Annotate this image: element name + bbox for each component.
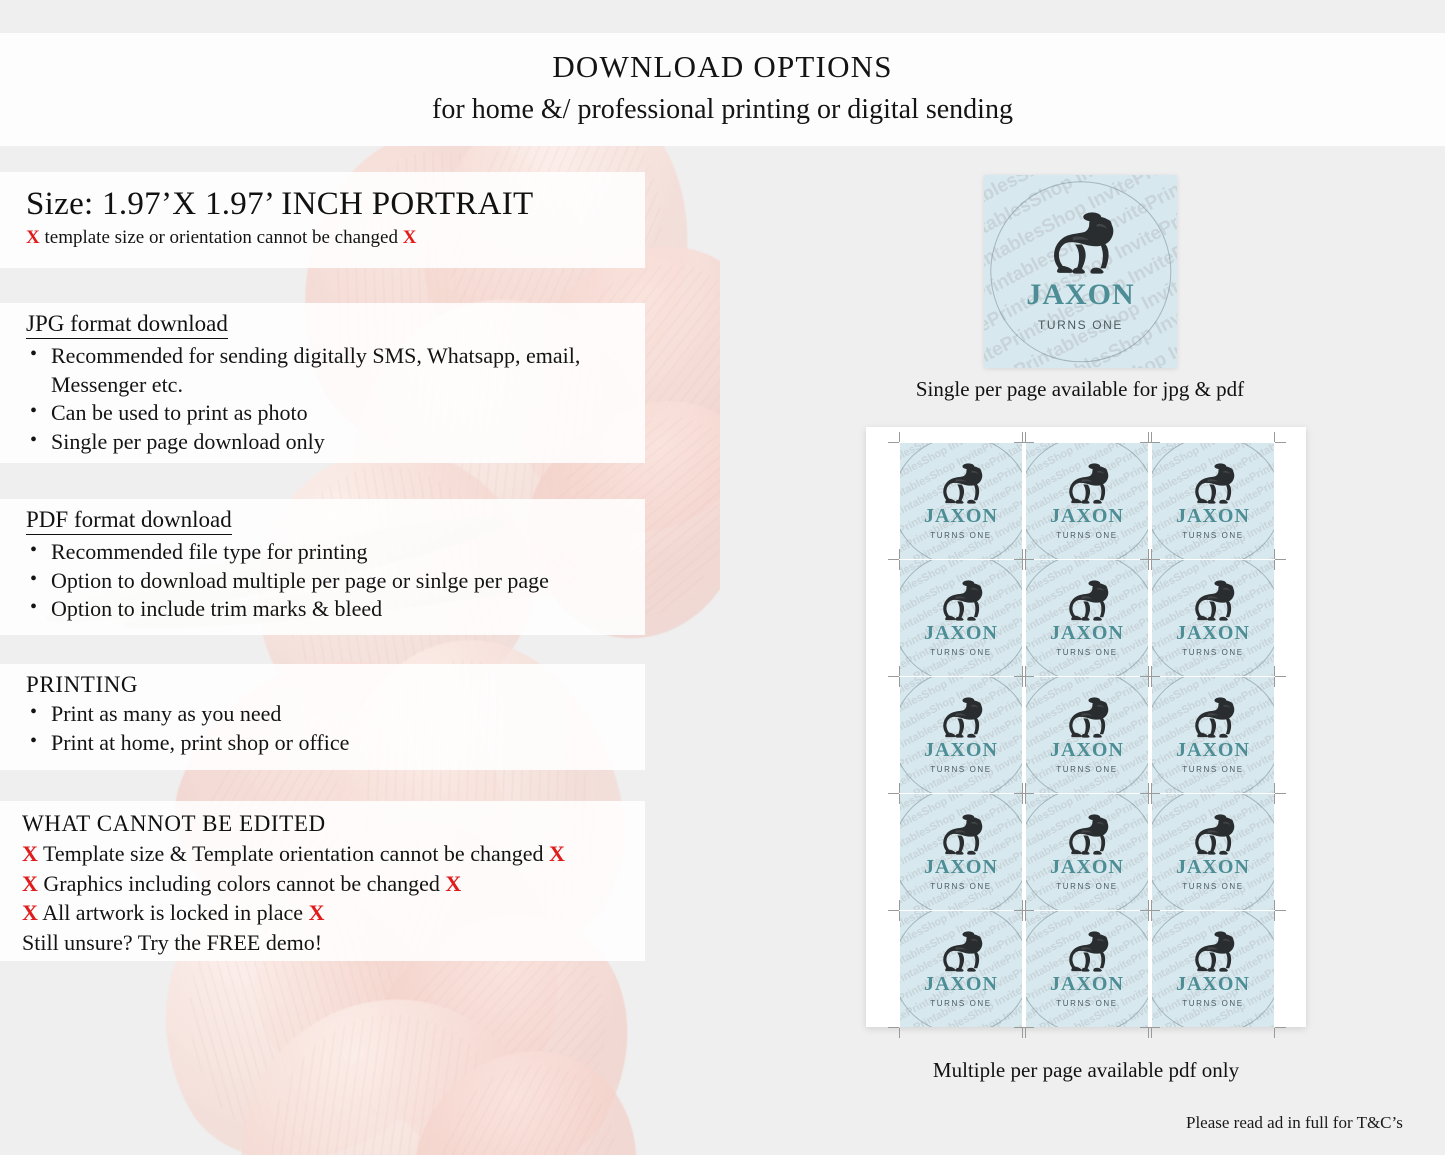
cannot-edit-text: Graphics including colors cannot be chan…: [43, 871, 439, 896]
trim-mark: [1140, 1027, 1151, 1028]
x-mark-icon: X: [22, 841, 38, 866]
x-mark-icon: X: [445, 871, 461, 896]
trim-mark: [899, 666, 900, 676]
sticker-name: JAXON: [1050, 506, 1124, 526]
trim-mark: [1274, 1028, 1275, 1038]
gorilla-icon: [1060, 580, 1114, 621]
sticker-name: JAXON: [1176, 974, 1250, 994]
sticker-tile: InvitePrintablesShop InvitePrintablesSho…: [1026, 443, 1148, 559]
sticker-tile: InvitePrintablesShop InvitePrintablesSho…: [1026, 794, 1148, 910]
sticker-name: JAXON: [1176, 740, 1250, 760]
sticker-tagline: TURNS ONE: [1056, 766, 1118, 774]
sticker-4: InvitePrintablesShop InvitePrintablesSho…: [900, 560, 1022, 676]
cannot-edit-text: Template size & Template orientation can…: [43, 841, 544, 866]
sticker-tile: InvitePrintablesShop InvitePrintablesSho…: [1152, 677, 1274, 793]
sticker-name: JAXON: [1050, 857, 1124, 877]
printing-heading: PRINTING: [26, 672, 645, 698]
trim-mark: [899, 1028, 900, 1038]
cannot-edit-closing: Still unsure? Try the FREE demo!: [22, 928, 645, 958]
sticker-sheet: InvitePrintablesShop InvitePrintablesSho…: [866, 427, 1306, 1027]
sticker-tagline: TURNS ONE: [1182, 532, 1244, 540]
sticker-tile: InvitePrintablesShop InvitePrintablesSho…: [1026, 560, 1148, 676]
sticker-tagline: TURNS ONE: [1182, 1000, 1244, 1008]
trim-mark: [1274, 666, 1275, 676]
list-item: Single per page download only: [26, 428, 645, 457]
sticker-tagline: TURNS ONE: [1182, 649, 1244, 657]
trim-mark: [1151, 1028, 1152, 1038]
sticker-name: JAXON: [924, 740, 998, 760]
cannot-edit-line: X Template size & Template orientation c…: [22, 839, 645, 869]
trim-mark: [1148, 560, 1149, 570]
trim-mark: [1140, 559, 1151, 560]
trim-mark: [1022, 677, 1023, 687]
sticker-tile: InvitePrintablesShop InvitePrintablesSho…: [900, 794, 1022, 910]
gorilla-icon: [1186, 463, 1240, 504]
trim-mark: [1148, 1028, 1149, 1038]
pdf-panel: PDF format download Recommended file typ…: [0, 499, 645, 635]
trim-mark: [1025, 900, 1026, 910]
trim-mark: [1022, 783, 1023, 793]
sticker-tile: InvitePrintablesShop InvitePrintablesSho…: [900, 911, 1022, 1027]
trim-mark: [1151, 783, 1152, 793]
trim-mark: [899, 783, 900, 793]
list-item: Recommended file type for printing: [26, 538, 645, 567]
page-root: DOWNLOAD OPTIONS for home &/ professiona…: [0, 0, 1445, 1155]
sticker-tile: InvitePrintablesShop InvitePrintablesSho…: [900, 443, 1022, 559]
gorilla-icon: [934, 463, 988, 504]
sticker-tagline: TURNS ONE: [1056, 1000, 1118, 1008]
list-item: Option to include trim marks & bleed: [26, 595, 645, 624]
sticker-name: JAXON: [1050, 974, 1124, 994]
trim-mark: [1022, 900, 1023, 910]
trim-mark: [899, 432, 900, 442]
sticker-name: JAXON: [1176, 623, 1250, 643]
trim-mark: [888, 910, 899, 911]
terms-footnote: Please read ad in full for T&C’s: [1186, 1113, 1403, 1133]
trim-mark: [899, 900, 900, 910]
gorilla-icon: [934, 697, 988, 738]
gorilla-icon: [1186, 931, 1240, 972]
sticker-tile: InvitePrintablesShop InvitePrintablesSho…: [900, 560, 1022, 676]
page-subtitle: for home &/ professional printing or dig…: [0, 94, 1445, 126]
sticker-5: InvitePrintablesShop InvitePrintablesSho…: [1026, 560, 1148, 676]
trim-mark: [1022, 560, 1023, 570]
sticker-tile: InvitePrintablesShop InvitePrintablesSho…: [1152, 794, 1274, 910]
sticker-name: JAXON: [924, 974, 998, 994]
sticker-tagline: TURNS ONE: [1182, 883, 1244, 891]
x-mark-icon: X: [22, 900, 38, 925]
gorilla-icon: [1060, 697, 1114, 738]
trim-mark: [1275, 676, 1286, 677]
sticker-tile: InvitePrintablesShop InvitePrintablesSho…: [900, 677, 1022, 793]
list-item: Can be used to print as photo: [26, 399, 645, 428]
sticker-1: InvitePrintablesShop InvitePrintablesSho…: [900, 443, 1022, 559]
sticker-tile: InvitePrintablesShop InvitePrintablesSho…: [1152, 443, 1274, 559]
gorilla-icon: [1060, 463, 1114, 504]
sticker-tagline: TURNS ONE: [930, 649, 992, 657]
trim-mark: [1274, 432, 1275, 442]
trim-mark: [1275, 910, 1286, 911]
trim-mark: [1014, 676, 1025, 677]
printing-bullet-list: Print as many as you need Print at home,…: [26, 700, 645, 757]
x-mark-icon: X: [549, 841, 565, 866]
sticker-tagline: TURNS ONE: [1056, 649, 1118, 657]
trim-mark: [1022, 432, 1023, 442]
gorilla-icon: [1060, 814, 1114, 855]
trim-mark: [1148, 783, 1149, 793]
trim-mark: [1275, 793, 1286, 794]
sticker-grid: InvitePrintablesShop InvitePrintablesSho…: [900, 443, 1274, 1027]
jpg-panel: JPG format download Recommended for send…: [0, 303, 645, 463]
jpg-heading: JPG format download: [26, 311, 228, 339]
sticker-name: JAXON: [924, 506, 998, 526]
list-item: Print as many as you need: [26, 700, 645, 729]
sticker-tagline: TURNS ONE: [930, 532, 992, 540]
trim-mark: [1148, 549, 1149, 559]
trim-mark: [1148, 794, 1149, 804]
sticker-7: InvitePrintablesShop InvitePrintablesSho…: [900, 677, 1022, 793]
sticker-8: InvitePrintablesShop InvitePrintablesSho…: [1026, 677, 1148, 793]
trim-mark: [1148, 666, 1149, 676]
size-note-text: template size or orientation cannot be c…: [44, 227, 397, 248]
sticker-12: InvitePrintablesShop InvitePrintablesSho…: [1152, 794, 1274, 910]
size-panel: Size: 1.97’X 1.97’ INCH PORTRAIT X templ…: [0, 172, 645, 268]
x-mark-icon: X: [309, 900, 325, 925]
trim-mark: [1148, 911, 1149, 921]
trim-mark: [1274, 783, 1275, 793]
trim-mark: [1014, 793, 1025, 794]
trim-mark: [1148, 432, 1149, 442]
x-mark-icon: X: [403, 227, 417, 248]
gorilla-icon: [1186, 697, 1240, 738]
sticker-name: JAXON: [924, 857, 998, 877]
trim-mark: [888, 676, 899, 677]
trim-mark: [1151, 900, 1152, 910]
trim-mark: [1274, 549, 1275, 559]
trim-mark: [1014, 442, 1025, 443]
trim-mark: [1022, 794, 1023, 804]
sticker-tile: InvitePrintablesShop InvitePrintablesSho…: [1026, 911, 1148, 1027]
list-item: Messenger etc.: [26, 371, 645, 400]
cannot-edit-heading: WHAT CANNOT BE EDITED: [22, 811, 645, 837]
list-item: Recommended for sending digitally SMS, W…: [26, 342, 645, 371]
trim-mark: [888, 793, 899, 794]
sticker-11: InvitePrintablesShop InvitePrintablesSho…: [1026, 794, 1148, 910]
trim-mark: [1022, 1028, 1023, 1038]
trim-mark: [1275, 559, 1286, 560]
trim-mark: [1274, 911, 1275, 921]
single-page-caption: Single per page available for jpg & pdf: [880, 377, 1280, 402]
trim-mark: [1148, 677, 1149, 687]
sticker-name: JAXON: [1026, 280, 1134, 310]
sticker-tagline: TURNS ONE: [1182, 766, 1244, 774]
trim-mark: [1151, 432, 1152, 442]
sticker-tile: InvitePrintablesShop InvitePrintablesSho…: [1026, 677, 1148, 793]
cannot-edit-line: X Graphics including colors cannot be ch…: [22, 869, 645, 899]
sticker-3: InvitePrintablesShop InvitePrintablesSho…: [1152, 443, 1274, 559]
sticker-single: InvitePrintablesShop InvitePrintablesSho…: [984, 175, 1177, 368]
sticker-tagline: TURNS ONE: [930, 883, 992, 891]
gorilla-icon: [934, 931, 988, 972]
trim-mark: [1014, 1027, 1025, 1028]
trim-mark: [1275, 442, 1286, 443]
trim-mark: [1025, 549, 1026, 559]
pdf-bullet-list: Recommended file type for printing Optio…: [26, 538, 645, 624]
gorilla-icon: [1040, 212, 1122, 274]
jpg-bullet-list: Recommended for sending digitally SMS, W…: [26, 342, 645, 456]
trim-mark: [1025, 783, 1026, 793]
x-mark-icon: X: [22, 871, 38, 896]
gorilla-icon: [1186, 580, 1240, 621]
multiple-page-caption: Multiple per page available pdf only: [886, 1058, 1286, 1083]
trim-mark: [1014, 559, 1025, 560]
gorilla-icon: [1060, 931, 1114, 972]
list-item: Print at home, print shop or office: [26, 729, 645, 758]
size-note: X template size or orientation cannot be…: [26, 227, 645, 249]
x-mark-icon: X: [26, 227, 40, 248]
trim-mark: [1022, 911, 1023, 921]
trim-mark: [888, 1027, 899, 1028]
trim-mark: [888, 442, 899, 443]
sticker-name: JAXON: [1050, 623, 1124, 643]
trim-mark: [1151, 549, 1152, 559]
trim-mark: [1022, 549, 1023, 559]
printing-panel: PRINTING Print as many as you need Print…: [0, 664, 645, 770]
cannot-edit-line: X All artwork is locked in place X: [22, 898, 645, 928]
trim-mark: [1025, 432, 1026, 442]
cannot-edit-text: All artwork is locked in place: [42, 900, 303, 925]
trim-mark: [1025, 1028, 1026, 1038]
sticker-13: InvitePrintablesShop InvitePrintablesSho…: [900, 911, 1022, 1027]
sticker-tagline: TURNS ONE: [1038, 319, 1123, 331]
sticker-tile: InvitePrintablesShop InvitePrintablesSho…: [1152, 560, 1274, 676]
trim-mark: [1274, 560, 1275, 570]
trim-mark: [1275, 1027, 1286, 1028]
sticker-6: InvitePrintablesShop InvitePrintablesSho…: [1152, 560, 1274, 676]
sticker-tile: InvitePrintablesShop InvitePrintablesSho…: [1152, 911, 1274, 1027]
trim-mark: [1140, 676, 1151, 677]
size-heading: Size: 1.97’X 1.97’ INCH PORTRAIT: [26, 186, 645, 223]
trim-mark: [1140, 910, 1151, 911]
gorilla-icon: [1186, 814, 1240, 855]
sticker-15: InvitePrintablesShop InvitePrintablesSho…: [1152, 911, 1274, 1027]
sticker-tagline: TURNS ONE: [930, 1000, 992, 1008]
floral-background: [0, 120, 720, 1155]
sticker-9: InvitePrintablesShop InvitePrintablesSho…: [1152, 677, 1274, 793]
trim-mark: [1140, 442, 1151, 443]
trim-mark: [1148, 900, 1149, 910]
trim-mark: [1140, 793, 1151, 794]
sticker-10: InvitePrintablesShop InvitePrintablesSho…: [900, 794, 1022, 910]
pdf-heading: PDF format download: [26, 507, 232, 535]
trim-mark: [1274, 677, 1275, 687]
sticker-2: InvitePrintablesShop InvitePrintablesSho…: [1026, 443, 1148, 559]
trim-mark: [899, 549, 900, 559]
sticker-tagline: TURNS ONE: [930, 766, 992, 774]
gorilla-icon: [934, 580, 988, 621]
header-banner: DOWNLOAD OPTIONS for home &/ professiona…: [0, 33, 1445, 146]
sticker-name: JAXON: [1176, 857, 1250, 877]
trim-mark: [1151, 666, 1152, 676]
trim-mark: [1014, 910, 1025, 911]
sticker-14: InvitePrintablesShop InvitePrintablesSho…: [1026, 911, 1148, 1027]
single-sticker-preview: InvitePrintablesShop InvitePrintablesSho…: [984, 175, 1177, 368]
trim-mark: [888, 559, 899, 560]
sticker-tagline: TURNS ONE: [1056, 532, 1118, 540]
list-item: Option to download multiple per page or …: [26, 567, 645, 596]
sticker-name: JAXON: [924, 623, 998, 643]
cannot-edit-panel: WHAT CANNOT BE EDITED X Template size & …: [0, 801, 645, 961]
sticker-tagline: TURNS ONE: [1056, 883, 1118, 891]
sticker-name: JAXON: [1050, 740, 1124, 760]
gorilla-icon: [934, 814, 988, 855]
trim-mark: [1274, 900, 1275, 910]
trim-mark: [1025, 666, 1026, 676]
sticker-name: JAXON: [1176, 506, 1250, 526]
trim-mark: [1022, 666, 1023, 676]
trim-mark: [1274, 794, 1275, 804]
page-title: DOWNLOAD OPTIONS: [0, 49, 1445, 85]
